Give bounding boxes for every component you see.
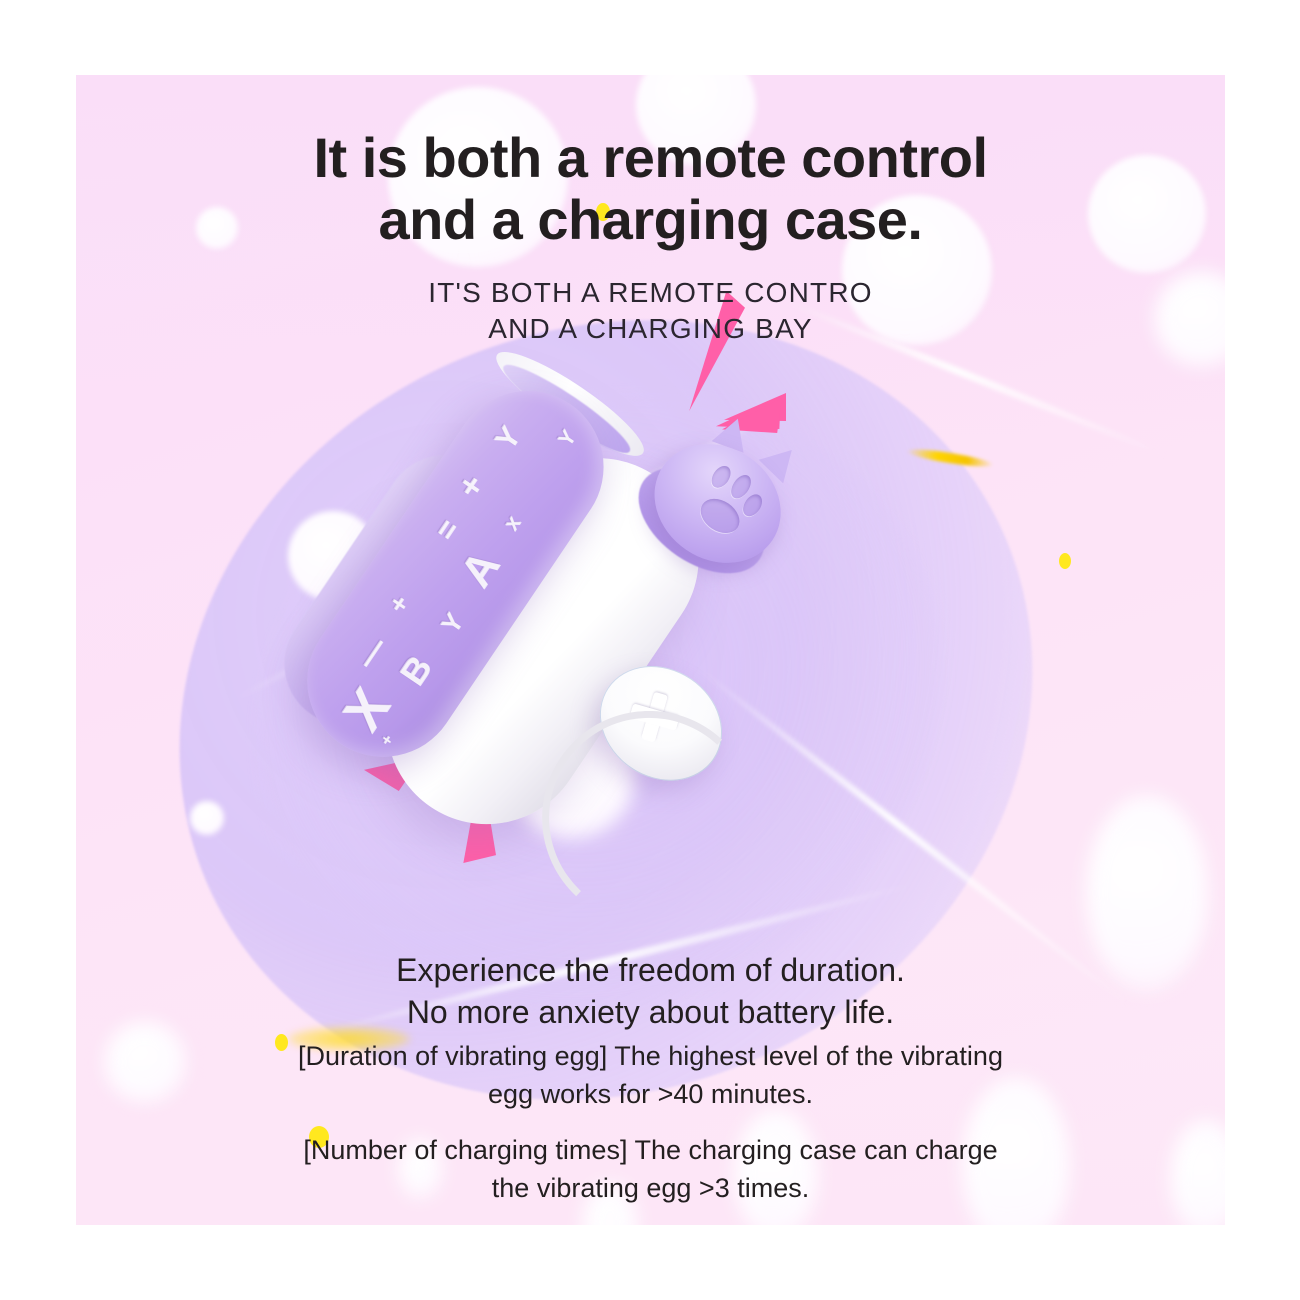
yellow-dot-accent [1059,553,1071,569]
emboss-mark: = [428,513,466,547]
emboss-mark: — [350,631,395,675]
paw-pad-icon [694,492,746,540]
emboss-mark: Y [554,426,582,451]
emboss-mark: B [391,648,440,693]
detail-duration: [Duration of vibrating egg] The highest … [76,1037,1225,1113]
poster-root: Y Y + x = A Y + B — X + [0,0,1300,1300]
emboss-mark: x [498,510,526,535]
emboss-mark: X [331,677,403,742]
emboss-mark: + [377,731,397,749]
emboss-mark: Y [434,607,469,639]
lead-paragraph: Experience the freedom of duration. No m… [76,949,1225,1033]
emboss-mark: A [451,542,510,596]
emboss-mark: + [382,589,416,619]
product-image: Y Y + x = A Y + B — X + [346,365,906,885]
page-subtitle: IT'S BOTH A REMOTE CONTRO AND A CHARGING… [76,275,1225,347]
poster-canvas: Y Y + x = A Y + B — X + [76,75,1225,1225]
detail-charges: [Number of charging times] The charging … [76,1131,1225,1207]
emboss-mark: Y [489,420,528,456]
page-title: It is both a remote control and a chargi… [76,127,1225,251]
emboss-mark: + [449,467,492,505]
bokeh-circle [190,801,224,835]
